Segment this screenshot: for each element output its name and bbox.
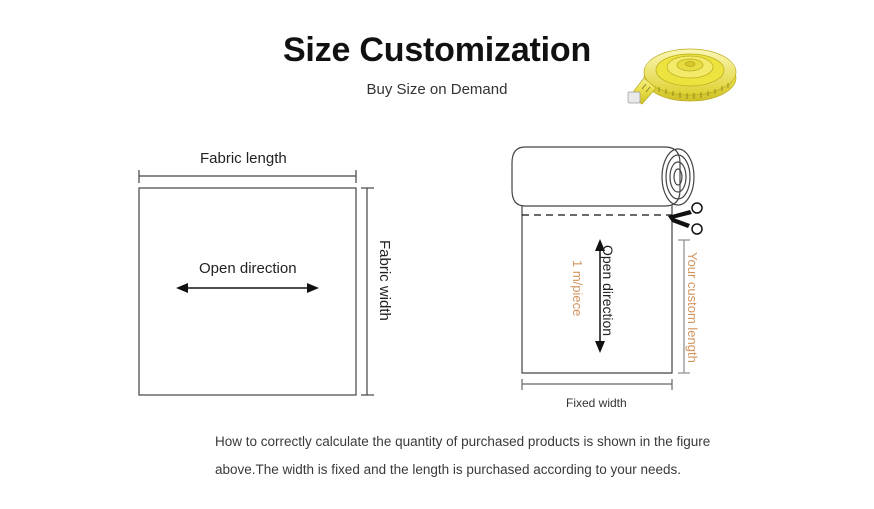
footer-line-2: above.The width is fixed and the length …: [215, 456, 735, 484]
piece-length-label: 1 m/piece: [571, 260, 584, 316]
custom-length-label: Your custom length: [686, 252, 699, 363]
fixed-width-dimension-line: [522, 379, 672, 390]
size-customization-infographic: Size Customization Buy Size on Demand: [0, 0, 874, 509]
fabric-roll-icon: [512, 147, 680, 206]
fixed-width-label: Fixed width: [566, 397, 627, 409]
open-direction-label-right: Open direction: [601, 245, 615, 336]
footer-note: How to correctly calculate the quantity …: [215, 428, 735, 484]
scissors-icon: [668, 203, 702, 234]
unrolled-fabric-sheet: [522, 205, 672, 373]
footer-line-1: How to correctly calculate the quantity …: [215, 428, 735, 456]
